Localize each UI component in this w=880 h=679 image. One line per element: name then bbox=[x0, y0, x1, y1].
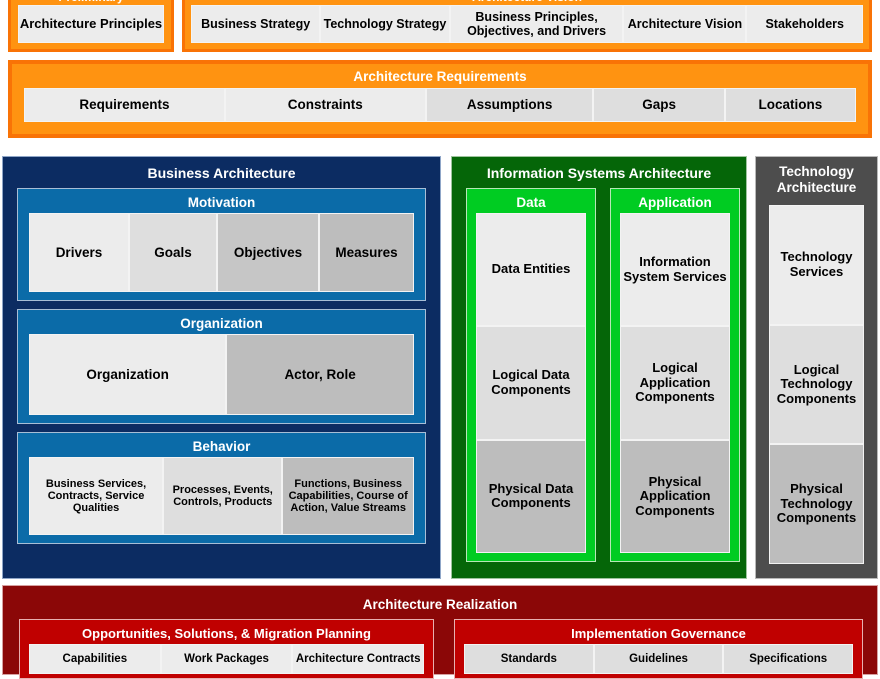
organization-row: Organization Actor, Role bbox=[29, 334, 414, 415]
cell-assumptions: Assumptions bbox=[426, 88, 594, 122]
organization-title: Organization bbox=[18, 315, 425, 332]
cell-locations: Locations bbox=[725, 88, 856, 122]
technology-architecture-title-line2: Architecture bbox=[777, 180, 857, 196]
motivation-subgroup: Motivation Drivers Goals Objectives Meas… bbox=[17, 188, 426, 301]
cell-constraints: Constraints bbox=[225, 88, 426, 122]
technology-architecture-title-line1: Technology bbox=[779, 164, 854, 180]
cell-logical-application-components: Logical Application Components bbox=[620, 326, 730, 439]
implementation-governance-title: Implementation Governance bbox=[455, 624, 862, 642]
architecture-realization-title: Architecture Realization bbox=[3, 594, 877, 614]
cell-business-principles-objectives-drivers: Business Principles, Objectives, and Dri… bbox=[450, 5, 624, 43]
cell-gaps: Gaps bbox=[593, 88, 724, 122]
architecture-requirements-row: Requirements Constraints Assumptions Gap… bbox=[24, 88, 856, 122]
cell-physical-data-components: Physical Data Components bbox=[476, 440, 586, 553]
cell-specifications: Specifications bbox=[723, 644, 853, 674]
cell-architecture-vision: Architecture Vision bbox=[623, 5, 746, 43]
cell-capabilities: Capabilities bbox=[29, 644, 161, 674]
cell-goals: Goals bbox=[129, 213, 217, 292]
cell-physical-technology-components: Physical Technology Components bbox=[769, 444, 864, 564]
data-column-stack: Data Entities Logical Data Components Ph… bbox=[476, 213, 586, 553]
cell-business-strategy: Business Strategy bbox=[191, 5, 320, 43]
application-column: Application Information System Services … bbox=[610, 188, 740, 562]
implementation-governance-row: Standards Guidelines Specifications bbox=[464, 644, 853, 674]
architecture-vision-row: Business Strategy Technology Strategy Bu… bbox=[191, 5, 863, 43]
cell-business-services-contracts-service-qualities: Business Services, Contracts, Service Qu… bbox=[29, 457, 163, 535]
cell-stakeholders: Stakeholders bbox=[746, 5, 863, 43]
cell-organization: Organization bbox=[29, 334, 226, 415]
cell-physical-application-components: Physical Application Components bbox=[620, 440, 730, 553]
cell-objectives: Objectives bbox=[217, 213, 319, 292]
technology-architecture-stack: Technology Services Logical Technology C… bbox=[769, 205, 864, 564]
preliminary-group: Preliminary Architecture Principles bbox=[8, 0, 174, 52]
business-architecture-title: Business Architecture bbox=[3, 164, 440, 182]
cell-actor-role: Actor, Role bbox=[226, 334, 414, 415]
business-architecture-group: Business Architecture Motivation Drivers… bbox=[2, 156, 441, 579]
technology-architecture-title: Technology Architecture bbox=[756, 163, 877, 197]
core-architecture-band: Business Architecture Motivation Drivers… bbox=[0, 156, 880, 579]
architecture-requirements-group: Architecture Requirements Requirements C… bbox=[8, 60, 872, 138]
cell-logical-technology-components: Logical Technology Components bbox=[769, 325, 864, 445]
cell-work-packages: Work Packages bbox=[161, 644, 293, 674]
opportunities-solutions-migration-planning-row: Capabilities Work Packages Architecture … bbox=[29, 644, 424, 674]
application-column-stack: Information System Services Logical Appl… bbox=[620, 213, 730, 553]
cell-measures: Measures bbox=[319, 213, 414, 292]
motivation-row: Drivers Goals Objectives Measures bbox=[29, 213, 414, 292]
data-column-title: Data bbox=[467, 194, 595, 211]
cell-drivers: Drivers bbox=[29, 213, 129, 292]
cell-processes-events-controls-products: Processes, Events, Controls, Products bbox=[163, 457, 282, 535]
cell-standards: Standards bbox=[464, 644, 594, 674]
opportunities-solutions-migration-planning-group: Opportunities, Solutions, & Migration Pl… bbox=[19, 619, 434, 679]
cell-guidelines: Guidelines bbox=[594, 644, 724, 674]
cell-functions-business-capabilities-course-of-action-value-streams: Functions, Business Capabilities, Course… bbox=[282, 457, 414, 535]
cell-architecture-principles: Architecture Principles bbox=[18, 5, 164, 43]
behavior-title: Behavior bbox=[18, 438, 425, 455]
behavior-subgroup: Behavior Business Services, Contracts, S… bbox=[17, 432, 426, 544]
cell-logical-data-components: Logical Data Components bbox=[476, 326, 586, 439]
cell-technology-services: Technology Services bbox=[769, 205, 864, 325]
cell-requirements: Requirements bbox=[24, 88, 225, 122]
application-column-title: Application bbox=[611, 194, 739, 211]
information-systems-architecture-title: Information Systems Architecture bbox=[452, 164, 746, 182]
motivation-title: Motivation bbox=[18, 194, 425, 211]
togaf-content-metamodel-diagram: Preliminary Architecture Principles Arch… bbox=[0, 0, 880, 660]
cell-architecture-contracts: Architecture Contracts bbox=[292, 644, 424, 674]
information-systems-architecture-group: Information Systems Architecture Data Da… bbox=[451, 156, 747, 579]
cell-technology-strategy: Technology Strategy bbox=[320, 5, 449, 43]
technology-architecture-group: Technology Architecture Technology Servi… bbox=[755, 156, 878, 579]
opportunities-solutions-migration-planning-title: Opportunities, Solutions, & Migration Pl… bbox=[20, 624, 433, 642]
cell-data-entities: Data Entities bbox=[476, 213, 586, 326]
behavior-row: Business Services, Contracts, Service Qu… bbox=[29, 457, 414, 535]
architecture-requirements-title: Architecture Requirements bbox=[12, 66, 868, 86]
data-column: Data Data Entities Logical Data Componen… bbox=[466, 188, 596, 562]
cell-information-system-services: Information System Services bbox=[620, 213, 730, 326]
organization-subgroup: Organization Organization Actor, Role bbox=[17, 309, 426, 424]
architecture-realization-group: Architecture Realization Opportunities, … bbox=[2, 585, 878, 675]
architecture-vision-group: Architecture Vision Business Strategy Te… bbox=[182, 0, 872, 52]
implementation-governance-group: Implementation Governance Standards Guid… bbox=[454, 619, 863, 679]
